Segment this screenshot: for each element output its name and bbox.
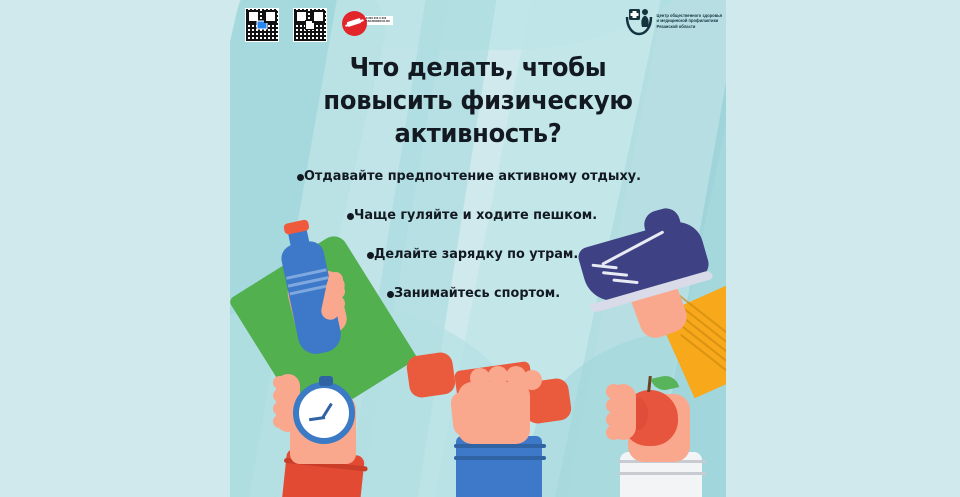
qr-code-vk-icon[interactable] (245, 8, 279, 42)
stopwatch-icon (293, 382, 355, 444)
hand-holding-stopwatch-illustration (268, 360, 408, 497)
list-item-label: Чаще гуляйте и ходите пешком. (354, 207, 597, 224)
stopwatch-hand-hour (309, 416, 325, 421)
qr-code-secondary-icon[interactable] (293, 8, 327, 42)
list-item-label: Занимайтесь спортом. (394, 285, 560, 302)
organization-name: Центр общественного здоровья и медицинск… (657, 13, 722, 30)
list-item: Отдавайте предпочтение активному отдыху. (230, 168, 726, 185)
health-center-emblem-icon (625, 6, 653, 36)
stopwatch-crown (319, 376, 333, 386)
organization-line-3: Рязанской области (657, 24, 722, 30)
organization-line-2: и медицинской профилактики (657, 18, 722, 24)
bullet-dot-icon (347, 213, 354, 220)
organization-logo: Центр общественного здоровья и медицинск… (625, 6, 722, 36)
list-item: Делайте зарядку по утрам. (230, 246, 726, 263)
list-item-label: Делайте зарядку по утрам. (374, 246, 578, 263)
fingers (610, 384, 636, 440)
poster-canvas: 8 800 200 0 200 TAKZDOROVO.RU Центр обще (0, 0, 960, 497)
poster-title: Что делать, чтобы повысить физическую ак… (230, 52, 726, 151)
hand-holding-dumbbell-illustration (412, 352, 602, 497)
title-line-2: повысить физическую активность? (247, 85, 708, 151)
vk-badge-icon (257, 21, 268, 30)
poster-artboard: 8 800 200 0 200 TAKZDOROVO.RU Центр обще (230, 0, 726, 497)
poster-header: 8 800 200 0 200 TAKZDOROVO.RU Центр обще (230, 0, 726, 46)
recommendation-list: Отдавайте предпочтение активному отдыху.… (230, 168, 726, 324)
no-smoking-logo-icon (342, 11, 367, 36)
hotline-info: 8 800 200 0 200 TAKZDOROVO.RU (363, 16, 393, 25)
list-item: Чаще гуляйте и ходите пешком. (230, 207, 726, 224)
blue-sleeve (456, 436, 542, 497)
list-item-label: Отдавайте предпочтение активному отдыху. (304, 168, 641, 185)
dumbbell-weight-left (405, 351, 456, 399)
list-item: Занимайтесь спортом. (230, 285, 726, 302)
title-line-1: Что делать, чтобы (247, 52, 708, 85)
bullet-dot-icon (367, 252, 374, 259)
hotline-site: TAKZDOROVO.RU (366, 20, 390, 23)
hand-holding-apple-illustration (596, 368, 726, 497)
qr-center-badge-icon (305, 20, 315, 30)
